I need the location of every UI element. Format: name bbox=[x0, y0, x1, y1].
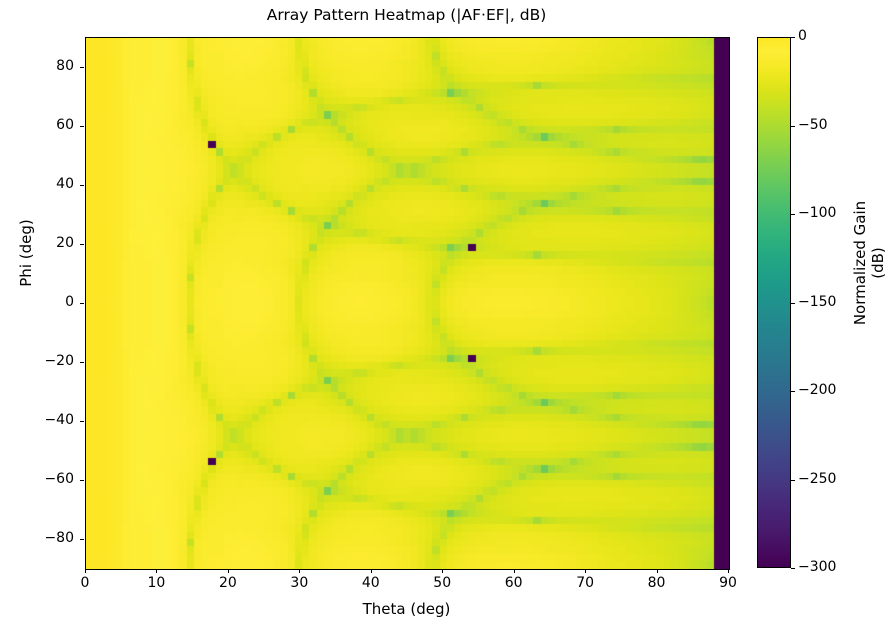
y-tick-label: 60 bbox=[18, 117, 74, 133]
colorbar-tick-mark bbox=[791, 37, 795, 38]
x-tick-label: 40 bbox=[341, 575, 401, 591]
colorbar-tick-label: −300 bbox=[798, 559, 836, 575]
x-tick-mark bbox=[228, 569, 229, 573]
x-tick-label: 50 bbox=[412, 575, 472, 591]
y-axis-label: Phi (deg) bbox=[17, 173, 35, 333]
x-tick-mark bbox=[442, 569, 443, 573]
x-tick-label: 10 bbox=[126, 575, 186, 591]
colorbar bbox=[757, 37, 791, 568]
colorbar-tick-mark bbox=[791, 214, 795, 215]
colorbar-tick-mark bbox=[791, 303, 795, 304]
y-tick-mark bbox=[80, 67, 84, 68]
colorbar-tick-mark bbox=[791, 391, 795, 392]
colorbar-tick-label: 0 bbox=[798, 28, 807, 44]
y-tick-label: −60 bbox=[18, 471, 74, 487]
colorbar-tick-label: −100 bbox=[798, 205, 836, 221]
y-tick-mark bbox=[80, 421, 84, 422]
figure: Array Pattern Heatmap (|AF·EF|, dB) 0102… bbox=[0, 0, 885, 637]
x-tick-mark bbox=[85, 569, 86, 573]
y-tick-mark bbox=[80, 362, 84, 363]
colorbar-tick-mark bbox=[791, 480, 795, 481]
y-tick-mark bbox=[80, 126, 84, 127]
colorbar-label: Normalized Gain (dB) bbox=[851, 183, 885, 343]
colorbar-tick-label: −50 bbox=[798, 117, 828, 133]
y-tick-mark bbox=[80, 303, 84, 304]
y-tick-mark bbox=[80, 480, 84, 481]
colorbar-gradient bbox=[757, 37, 791, 568]
y-tick-mark bbox=[80, 539, 84, 540]
colorbar-tick-mark bbox=[791, 126, 795, 127]
x-tick-mark bbox=[156, 569, 157, 573]
x-axis-label: Theta (deg) bbox=[85, 600, 728, 618]
y-tick-label: −20 bbox=[18, 353, 74, 369]
colorbar-tick-label: −250 bbox=[798, 471, 836, 487]
x-tick-mark bbox=[728, 569, 729, 573]
x-tick-mark bbox=[299, 569, 300, 573]
x-tick-label: 80 bbox=[627, 575, 687, 591]
x-tick-label: 20 bbox=[198, 575, 258, 591]
colorbar-tick-mark bbox=[791, 568, 795, 569]
x-tick-label: 30 bbox=[269, 575, 329, 591]
heatmap-image bbox=[86, 38, 729, 569]
x-tick-mark bbox=[585, 569, 586, 573]
x-tick-label: 0 bbox=[55, 575, 115, 591]
chart-title: Array Pattern Heatmap (|AF·EF|, dB) bbox=[85, 6, 728, 24]
x-tick-mark bbox=[657, 569, 658, 573]
y-tick-mark bbox=[80, 185, 84, 186]
y-tick-mark bbox=[80, 244, 84, 245]
colorbar-tick-label: −150 bbox=[798, 294, 836, 310]
x-tick-label: 90 bbox=[698, 575, 758, 591]
x-tick-mark bbox=[514, 569, 515, 573]
heatmap-plot-area bbox=[85, 37, 730, 570]
x-tick-mark bbox=[371, 569, 372, 573]
colorbar-tick-label: −200 bbox=[798, 382, 836, 398]
x-tick-label: 60 bbox=[484, 575, 544, 591]
y-tick-label: −80 bbox=[18, 530, 74, 546]
y-tick-label: −40 bbox=[18, 412, 74, 428]
y-tick-label: 80 bbox=[18, 58, 74, 74]
x-tick-label: 70 bbox=[555, 575, 615, 591]
